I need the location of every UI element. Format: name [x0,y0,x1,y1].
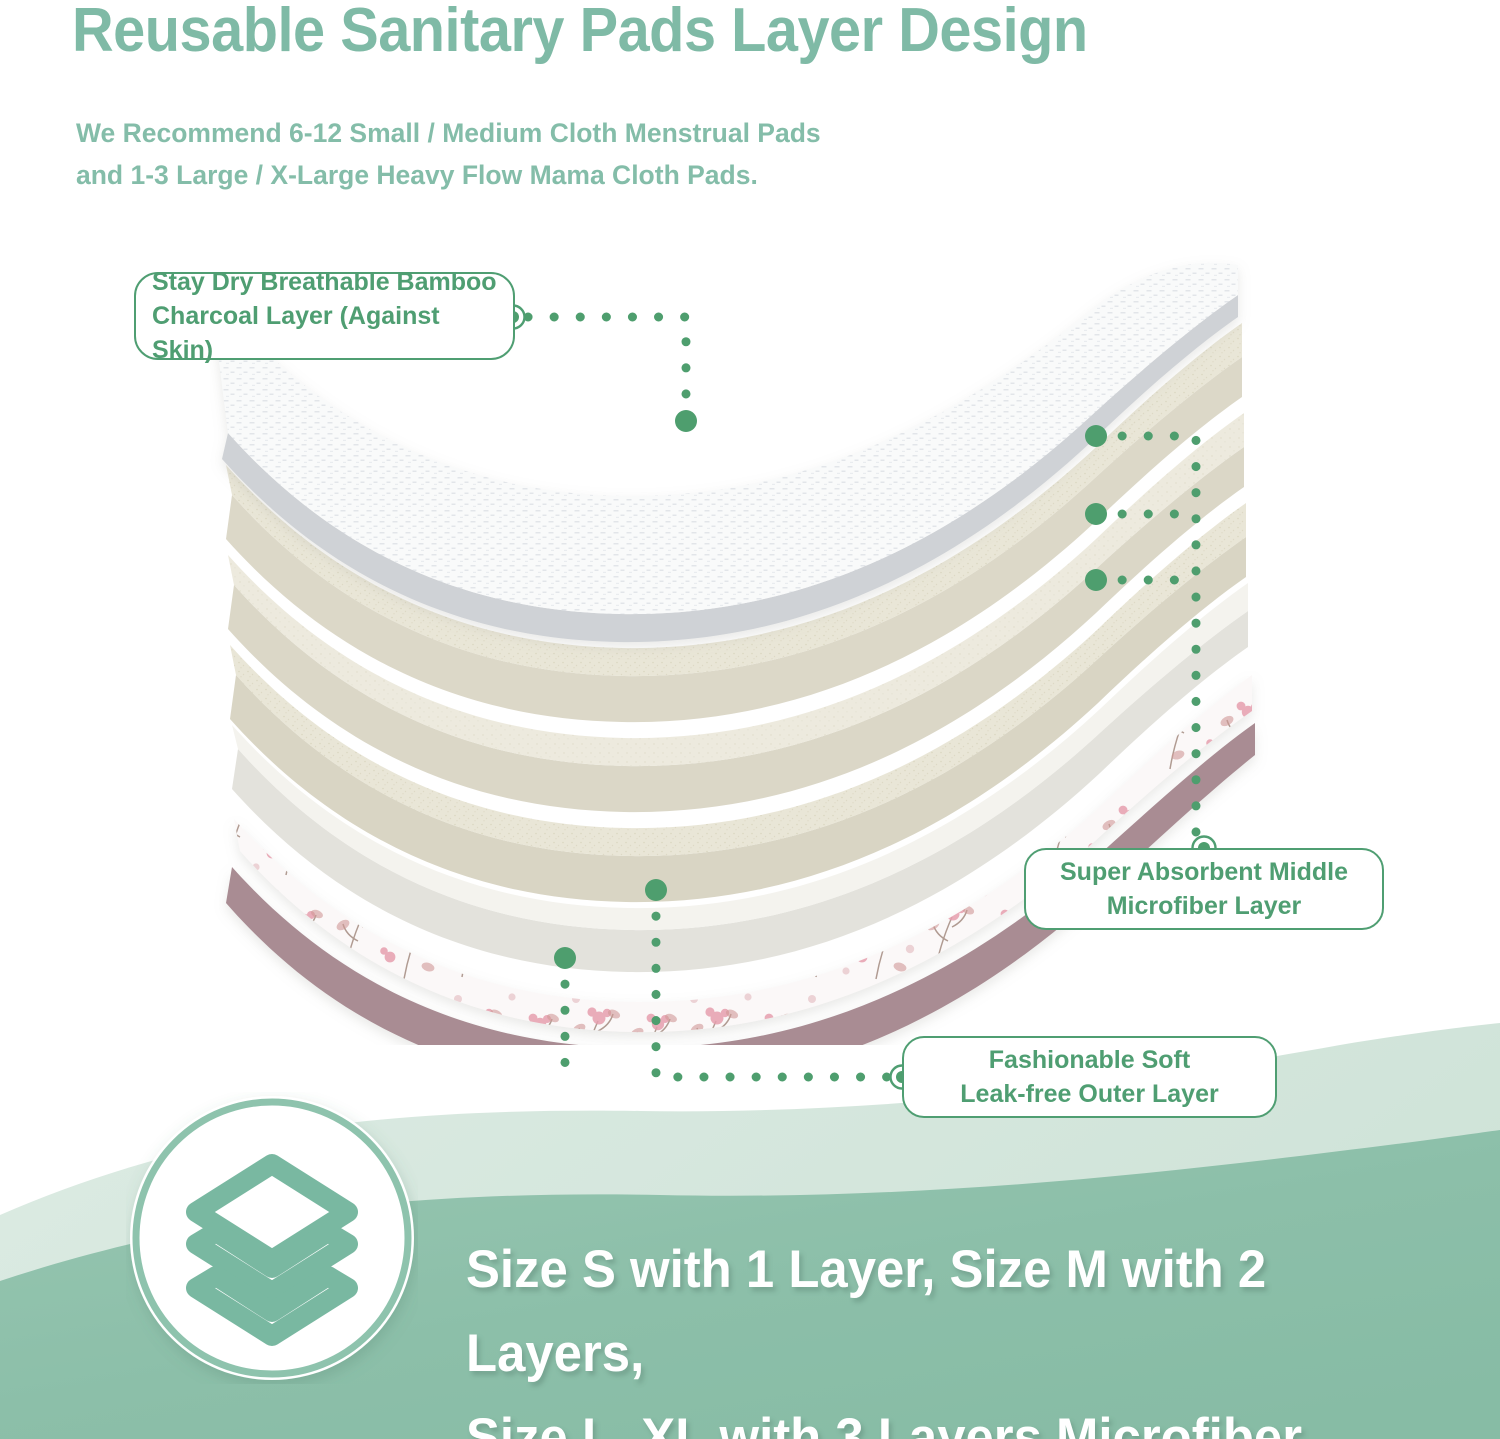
infographic-page: Reusable Sanitary Pads Layer Design We R… [0,0,1500,1439]
callout-microfiber-layer: Super Absorbent Middle Microfiber Layer [1024,848,1384,930]
callout-bamboo-charcoal-layer: Stay Dry Breathable Bamboo Charcoal Laye… [134,272,515,360]
banner-size-layers-text: Size S with 1 Layer, Size M with 2 Layer… [466,1228,1436,1439]
callout-outer-layer: Fashionable Soft Leak-free Outer Layer [902,1036,1277,1118]
page-title: Reusable Sanitary Pads Layer Design [72,0,1088,64]
layers-stack-icon [126,1092,418,1384]
page-subtitle: We Recommend 6-12 Small / Medium Cloth M… [76,112,821,196]
